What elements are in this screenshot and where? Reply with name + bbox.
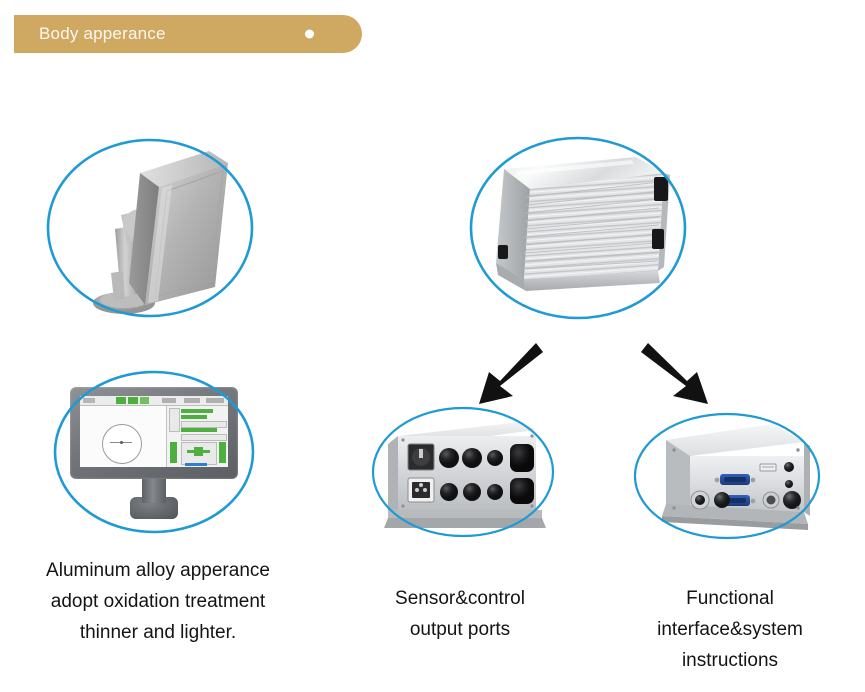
photo-front-monitor	[52, 369, 257, 535]
photo-sensor-port-panel	[370, 406, 556, 538]
photo-functional-port-panel	[632, 412, 822, 540]
functional-panel-art	[632, 412, 822, 540]
caption-right: Functional interface&system instructions	[630, 583, 830, 676]
figure-front-monitor	[52, 369, 257, 535]
figure-aluminum-box	[468, 133, 688, 323]
radar-display	[102, 424, 142, 464]
figure-tilted-monitor	[45, 133, 255, 323]
monitor-screen	[80, 396, 228, 467]
screen-control-panel	[166, 406, 228, 467]
photo-aluminum-box	[468, 133, 688, 323]
sensor-panel-art	[370, 406, 556, 538]
page-title: Body apperance	[39, 24, 166, 44]
caption-left: Aluminum alloy apperance adopt oxidation…	[8, 555, 308, 648]
bullet-dot-icon	[305, 30, 314, 39]
tilted-monitor-art	[45, 133, 255, 323]
photo-tilted-monitor	[45, 133, 255, 323]
figure-functional-port-panel	[632, 412, 822, 540]
arrow-to-sensor-panel-icon	[479, 343, 543, 404]
header-banner: Body apperance	[14, 15, 362, 53]
aluminum-box-art	[468, 133, 688, 323]
figure-sensor-port-panel	[370, 406, 556, 538]
arrow-to-functional-panel-icon	[641, 343, 708, 404]
caption-middle: Sensor&control output ports	[360, 583, 560, 645]
